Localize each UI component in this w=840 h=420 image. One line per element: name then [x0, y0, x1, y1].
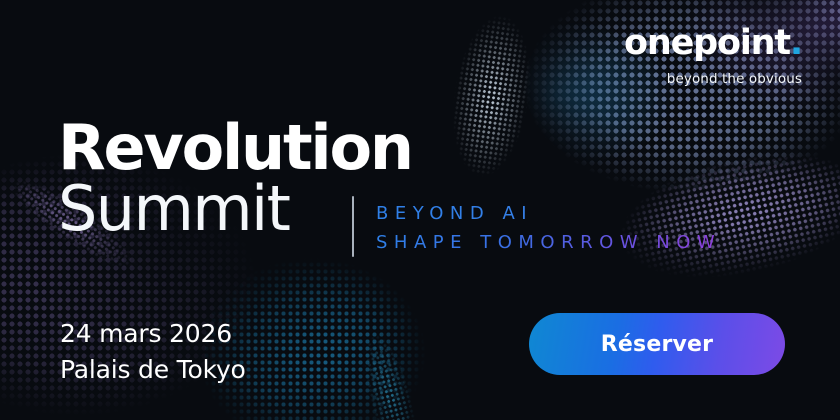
event-banner: onepoint. beyond the obvious Revolution … [0, 0, 840, 420]
logo-dot-icon: . [790, 23, 802, 63]
logo-wordmark-text: onepoint [624, 23, 790, 63]
tagline-lines: BEYOND AI SHAPE TOMORROW NOW [376, 196, 721, 257]
logo-wordmark: onepoint. [624, 26, 802, 61]
reserve-button[interactable]: Réserver [529, 313, 785, 375]
title-line-1: Revolution [58, 118, 412, 179]
event-date: 24 mars 2026 [60, 316, 246, 352]
event-venue: Palais de Tokyo [60, 352, 246, 388]
banner-content: onepoint. beyond the obvious Revolution … [0, 0, 840, 420]
logo-tagline: beyond the obvious [624, 71, 802, 87]
brand-logo[interactable]: onepoint. beyond the obvious [624, 26, 802, 87]
tagline-line-2: SHAPE TOMORROW NOW [376, 228, 721, 257]
event-details: 24 mars 2026 Palais de Tokyo [60, 316, 246, 387]
event-tagline: BEYOND AI SHAPE TOMORROW NOW [352, 196, 721, 257]
vertical-divider [352, 196, 354, 257]
tagline-line-1: BEYOND AI [376, 199, 721, 228]
